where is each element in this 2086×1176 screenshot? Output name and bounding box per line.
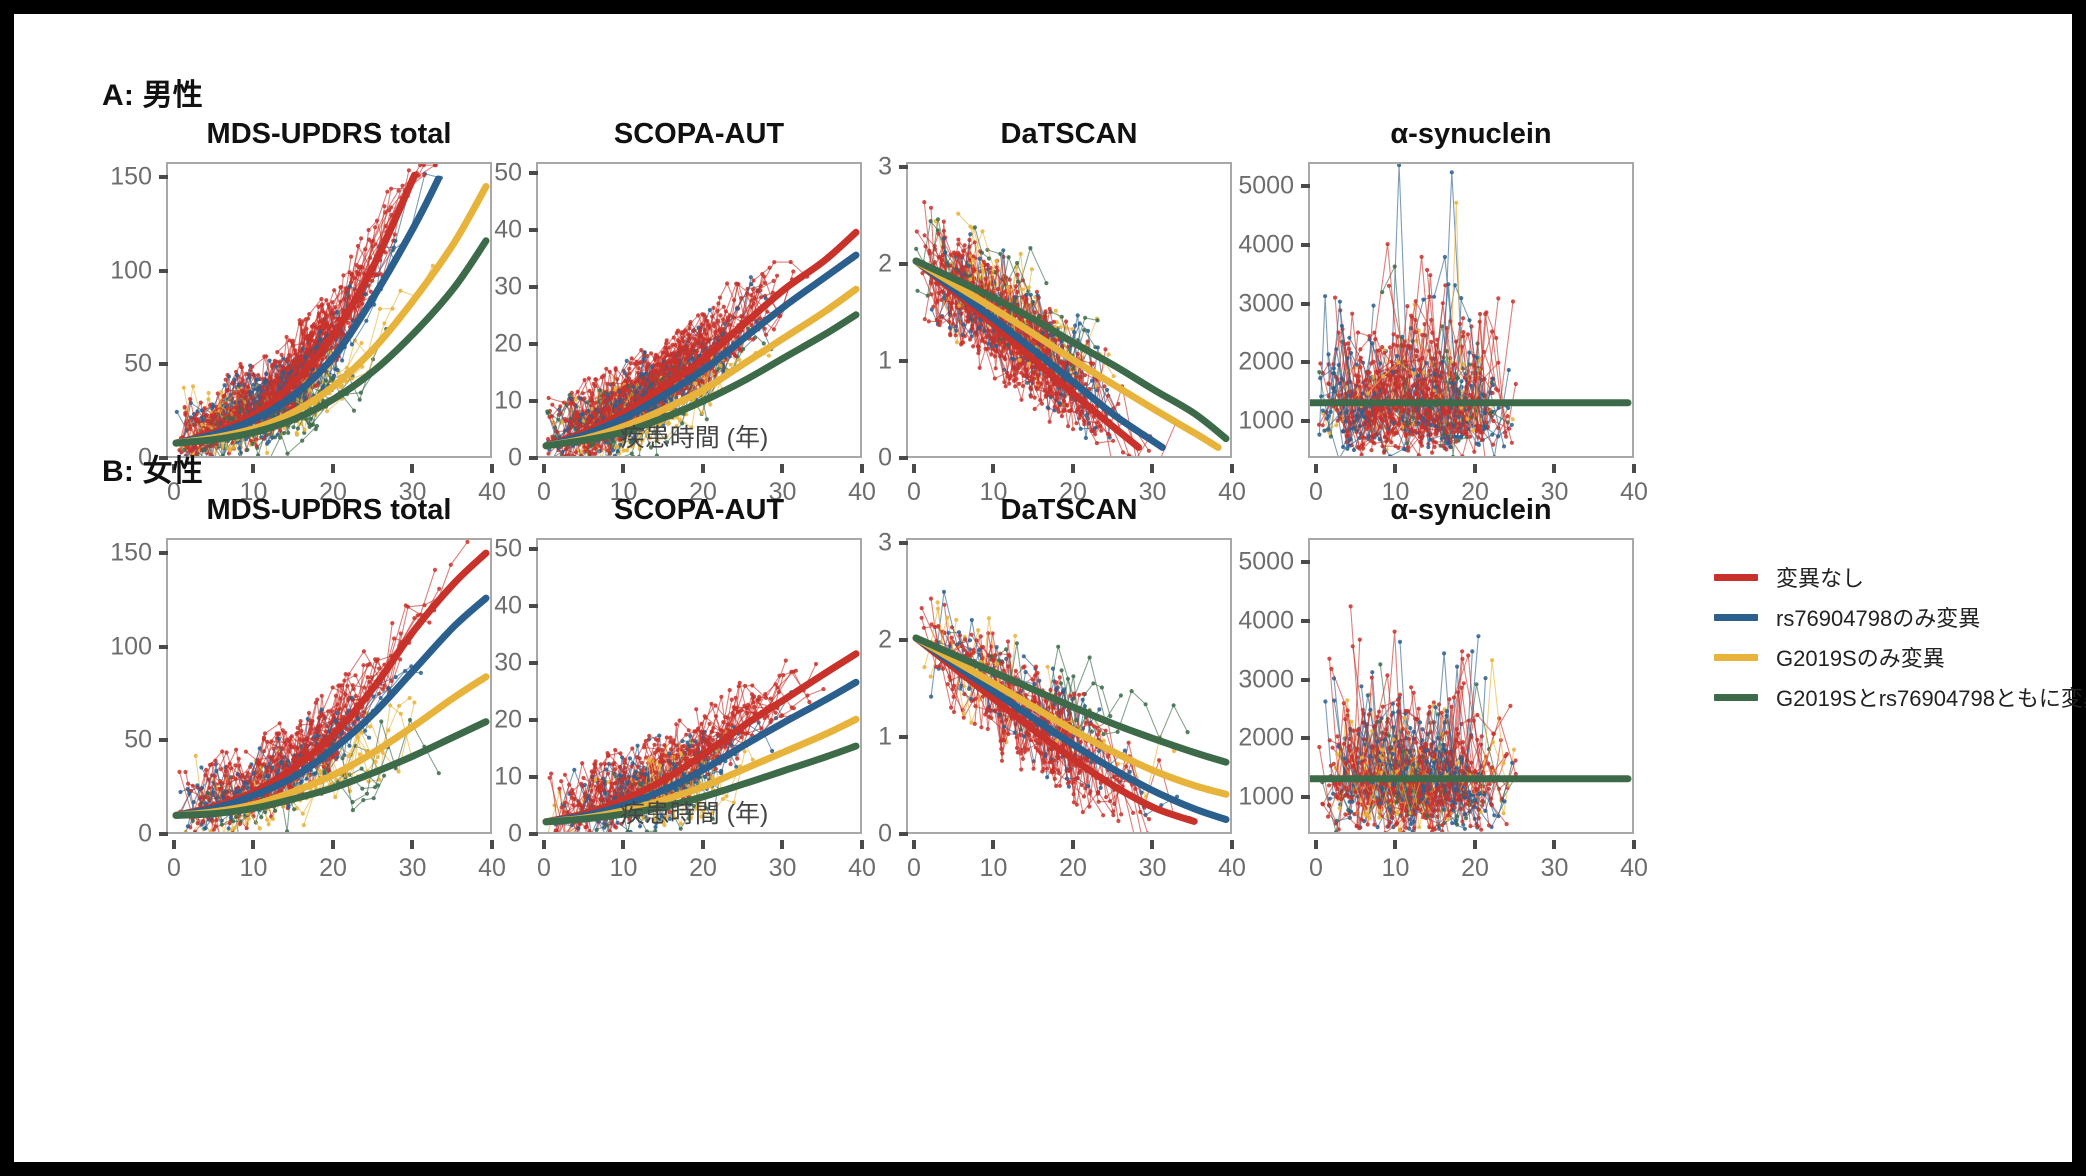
data-point xyxy=(772,327,776,331)
data-point xyxy=(929,206,933,210)
data-point xyxy=(370,240,374,244)
data-point xyxy=(264,391,268,395)
data-point xyxy=(775,274,779,278)
data-point xyxy=(318,337,322,341)
data-point xyxy=(546,452,550,456)
data-point xyxy=(961,249,965,253)
data-point xyxy=(290,403,294,407)
data-point xyxy=(936,217,940,221)
data-point xyxy=(593,457,597,458)
data-point xyxy=(1103,347,1107,351)
data-point xyxy=(227,374,231,378)
data-point xyxy=(940,290,944,294)
data-point xyxy=(737,358,741,362)
data-point xyxy=(1002,380,1006,384)
data-point xyxy=(668,396,672,400)
data-point xyxy=(256,373,260,377)
data-point xyxy=(764,333,768,337)
plot-area xyxy=(1308,162,1634,458)
data-point xyxy=(977,345,981,349)
data-point xyxy=(986,328,990,332)
data-point xyxy=(1048,420,1052,424)
data-point xyxy=(955,340,959,344)
data-point xyxy=(1134,457,1138,458)
data-point xyxy=(649,378,653,382)
data-point xyxy=(238,407,242,411)
data-point xyxy=(1020,288,1024,292)
x-tick-mark xyxy=(991,464,995,473)
data-point xyxy=(938,323,942,327)
data-point xyxy=(311,325,315,329)
data-point xyxy=(751,337,755,341)
plot-svg xyxy=(168,164,492,458)
data-point xyxy=(973,240,977,244)
data-point xyxy=(1083,316,1087,320)
data-point xyxy=(267,440,271,444)
data-point xyxy=(1042,315,1046,319)
data-point xyxy=(275,350,279,354)
y-tick-mark xyxy=(529,228,538,232)
data-point xyxy=(614,366,618,370)
data-point xyxy=(973,225,977,229)
data-point xyxy=(943,250,947,254)
data-point xyxy=(340,358,344,362)
data-point xyxy=(256,453,260,457)
data-point xyxy=(729,363,733,367)
data-point xyxy=(696,313,700,317)
data-point xyxy=(373,273,377,277)
data-point xyxy=(249,439,253,443)
data-point xyxy=(956,253,960,257)
data-point xyxy=(767,354,771,358)
data-point xyxy=(1076,352,1080,356)
subject-trajectories xyxy=(1317,164,1518,458)
data-point xyxy=(191,384,195,388)
data-point xyxy=(568,401,572,405)
data-point xyxy=(1138,457,1142,458)
x-tick-mark xyxy=(542,464,546,473)
data-point xyxy=(672,353,676,357)
plot-svg xyxy=(1310,164,1634,458)
y-tick-label: 10 xyxy=(472,387,522,416)
plot-area xyxy=(536,162,862,458)
data-point xyxy=(1036,296,1040,300)
data-point xyxy=(383,210,387,214)
data-point xyxy=(665,338,669,342)
data-point xyxy=(232,391,236,395)
data-point xyxy=(347,270,351,274)
data-point xyxy=(971,258,975,262)
data-point xyxy=(700,411,704,415)
data-point xyxy=(551,457,555,458)
data-point xyxy=(1084,436,1088,440)
data-point xyxy=(704,318,708,322)
data-point xyxy=(285,335,289,339)
data-point xyxy=(630,356,634,360)
data-point xyxy=(359,391,363,395)
data-point xyxy=(937,255,941,259)
data-point xyxy=(751,302,755,306)
data-point xyxy=(549,457,553,458)
data-point xyxy=(188,427,192,431)
data-point xyxy=(235,373,239,377)
data-point xyxy=(273,359,277,363)
data-point xyxy=(915,289,919,293)
data-point xyxy=(978,257,982,261)
data-point xyxy=(574,421,578,425)
y-tick-mark xyxy=(529,456,538,460)
data-point xyxy=(1071,427,1075,431)
data-point xyxy=(559,456,563,458)
data-point xyxy=(987,256,991,260)
data-point xyxy=(291,425,295,429)
data-point xyxy=(695,338,699,342)
data-point xyxy=(343,286,347,290)
data-point xyxy=(1024,297,1028,301)
data-point xyxy=(594,417,598,421)
data-point xyxy=(264,354,268,358)
data-point xyxy=(673,343,677,347)
data-point xyxy=(392,246,396,250)
data-point xyxy=(206,397,210,401)
data-point xyxy=(719,313,723,317)
data-point xyxy=(227,447,231,451)
data-point xyxy=(352,276,356,280)
data-point xyxy=(1048,307,1052,311)
data-point xyxy=(333,367,337,371)
data-point xyxy=(1073,371,1077,375)
data-point xyxy=(240,389,244,393)
data-point xyxy=(762,341,766,345)
data-point xyxy=(1006,374,1010,378)
data-point xyxy=(1030,267,1034,271)
data-point xyxy=(923,233,927,237)
data-point xyxy=(203,457,207,458)
y-tick-mark xyxy=(529,171,538,175)
data-point xyxy=(364,319,368,323)
data-point xyxy=(196,419,200,423)
data-point xyxy=(712,321,716,325)
data-point xyxy=(977,326,981,330)
data-point xyxy=(583,378,587,382)
data-point xyxy=(789,260,793,264)
data-point xyxy=(980,229,984,233)
data-point xyxy=(1091,362,1095,366)
data-point xyxy=(318,330,322,334)
y-tick-mark xyxy=(899,262,908,266)
data-point xyxy=(625,359,629,363)
plot-area xyxy=(906,162,1232,458)
data-point xyxy=(300,439,304,443)
data-point xyxy=(1116,402,1120,406)
data-point xyxy=(929,292,933,296)
data-point xyxy=(1059,325,1063,329)
data-point xyxy=(320,302,324,306)
data-point xyxy=(593,384,597,388)
data-point xyxy=(665,346,669,350)
data-point xyxy=(268,457,272,458)
data-point xyxy=(255,444,259,448)
y-tick-mark xyxy=(159,269,168,273)
data-point xyxy=(606,448,610,452)
data-point xyxy=(574,397,578,401)
data-point xyxy=(208,403,212,407)
data-point xyxy=(271,363,275,367)
data-point xyxy=(1158,457,1162,458)
data-point xyxy=(979,280,983,284)
data-point xyxy=(736,282,740,286)
data-point xyxy=(195,412,199,416)
data-point xyxy=(938,315,942,319)
data-point xyxy=(1352,448,1356,452)
data-point xyxy=(274,365,278,369)
data-point xyxy=(332,288,336,292)
data-point xyxy=(1027,362,1031,366)
data-point xyxy=(728,323,732,327)
data-point xyxy=(703,328,707,332)
data-point xyxy=(922,200,926,204)
data-point xyxy=(605,457,609,458)
data-point xyxy=(547,396,551,400)
data-point xyxy=(980,251,984,255)
data-point xyxy=(655,454,659,458)
x-tick-mark xyxy=(251,464,255,473)
data-point xyxy=(1025,293,1029,297)
panel-a2: SCOPA-AUT01020304050010203040 xyxy=(472,118,882,518)
x-tick-mark xyxy=(410,464,414,473)
data-point xyxy=(615,399,619,403)
data-point xyxy=(229,408,233,412)
data-point xyxy=(182,386,186,390)
data-point xyxy=(175,410,179,414)
data-point xyxy=(994,366,998,370)
data-point xyxy=(558,457,562,458)
plot-area xyxy=(166,162,492,458)
data-point xyxy=(591,411,595,415)
data-point xyxy=(590,443,594,447)
data-point xyxy=(751,278,755,282)
data-point xyxy=(259,435,263,439)
data-point xyxy=(971,344,975,348)
y-tick-label: 50 xyxy=(472,159,522,188)
data-point xyxy=(637,455,641,458)
data-point xyxy=(749,282,753,286)
data-point xyxy=(281,356,285,360)
data-point xyxy=(994,344,998,348)
data-point xyxy=(926,294,930,298)
data-point xyxy=(966,320,970,324)
data-point xyxy=(1064,319,1068,323)
data-point xyxy=(1035,290,1039,294)
data-point xyxy=(1015,261,1019,265)
data-point xyxy=(960,269,964,273)
data-point xyxy=(398,289,402,293)
y-tick-label: 0 xyxy=(842,444,892,473)
data-point xyxy=(1019,371,1023,375)
data-point xyxy=(1028,246,1032,250)
data-point xyxy=(220,457,224,458)
data-point xyxy=(949,253,953,257)
data-point xyxy=(1007,255,1011,259)
data-point xyxy=(999,354,1003,358)
data-point xyxy=(1055,397,1059,401)
data-point xyxy=(545,457,549,458)
data-point xyxy=(614,386,618,390)
data-point xyxy=(711,306,715,310)
data-point xyxy=(358,265,362,269)
data-point xyxy=(268,359,272,363)
panel-title: α-synuclein xyxy=(1308,118,1634,151)
data-point xyxy=(563,417,567,421)
data-point xyxy=(615,377,619,381)
data-point xyxy=(254,378,258,382)
data-point xyxy=(350,377,354,381)
data-point xyxy=(649,351,653,355)
data-point xyxy=(985,263,989,267)
data-point xyxy=(384,224,388,228)
data-point xyxy=(971,254,975,258)
data-point xyxy=(341,273,345,277)
data-point xyxy=(688,322,692,326)
data-point xyxy=(188,397,192,401)
data-point xyxy=(710,315,714,319)
data-point xyxy=(751,287,755,291)
data-point xyxy=(604,457,608,458)
data-point xyxy=(645,364,649,368)
data-point xyxy=(953,313,957,317)
data-point xyxy=(1001,339,1005,343)
panel-title: DaTSCAN xyxy=(906,118,1232,151)
data-point xyxy=(956,238,960,242)
x-tick-mark xyxy=(780,464,784,473)
data-point xyxy=(321,385,325,389)
data-point xyxy=(1099,429,1103,433)
data-point xyxy=(296,426,300,430)
data-point xyxy=(332,316,336,320)
y-tick-mark xyxy=(899,165,908,169)
data-point xyxy=(545,409,549,413)
data-point xyxy=(393,232,397,236)
data-point xyxy=(1085,413,1089,417)
data-point xyxy=(1053,405,1057,409)
data-point xyxy=(1013,373,1017,377)
data-point xyxy=(225,388,229,392)
data-point xyxy=(993,354,997,358)
data-point xyxy=(1045,381,1049,385)
data-point xyxy=(1046,405,1050,409)
data-point xyxy=(948,332,952,336)
x-tick-mark xyxy=(912,464,916,473)
data-point xyxy=(722,305,726,309)
data-point xyxy=(673,367,677,371)
data-point xyxy=(367,228,371,232)
data-point xyxy=(993,376,997,380)
panel-a4: α-synuclein10002000300040005000010203040 xyxy=(1212,118,1654,518)
data-point xyxy=(949,264,953,268)
data-point xyxy=(989,352,993,356)
data-point xyxy=(245,448,249,452)
data-point xyxy=(593,452,597,456)
data-point xyxy=(1502,444,1506,448)
data-point xyxy=(237,413,241,417)
data-point xyxy=(637,366,641,370)
data-point xyxy=(968,337,972,341)
data-point xyxy=(1043,309,1047,313)
data-point xyxy=(1107,433,1111,437)
data-point xyxy=(565,457,569,458)
data-point xyxy=(749,323,753,327)
data-point xyxy=(208,453,212,457)
panel-title: SCOPA-AUT xyxy=(536,118,862,151)
data-point xyxy=(1036,381,1040,385)
data-point xyxy=(358,398,362,402)
data-point xyxy=(236,384,240,388)
data-point xyxy=(213,457,217,458)
data-point xyxy=(630,397,634,401)
data-point xyxy=(700,312,704,316)
data-point xyxy=(1018,358,1022,362)
data-point xyxy=(1058,401,1062,405)
data-point xyxy=(316,314,320,318)
data-point xyxy=(1001,248,1005,252)
data-point xyxy=(1107,352,1111,356)
data-point xyxy=(1074,421,1078,425)
data-point xyxy=(635,360,639,364)
y-tick-mark xyxy=(899,456,908,460)
data-point xyxy=(613,454,617,458)
data-point xyxy=(224,378,228,382)
data-point xyxy=(348,284,352,288)
data-point xyxy=(716,301,720,305)
data-point xyxy=(1013,298,1017,302)
data-point xyxy=(359,236,363,240)
data-point xyxy=(304,355,308,359)
data-point xyxy=(600,375,604,379)
data-point xyxy=(270,386,274,390)
data-point xyxy=(986,347,990,351)
data-point xyxy=(604,400,608,404)
data-point xyxy=(407,168,411,172)
data-point xyxy=(1044,281,1048,285)
data-point xyxy=(219,390,223,394)
data-point xyxy=(1050,394,1054,398)
panel-a3: DaTSCAN0123010203040 xyxy=(842,118,1252,518)
data-point xyxy=(972,317,976,321)
data-point xyxy=(1134,457,1138,458)
data-point xyxy=(616,457,620,458)
data-point xyxy=(280,353,284,357)
data-point xyxy=(563,429,567,433)
data-point xyxy=(213,457,217,458)
data-point xyxy=(1143,457,1147,458)
data-point xyxy=(1015,351,1019,355)
data-point xyxy=(675,362,679,366)
data-point xyxy=(556,418,560,422)
data-point xyxy=(1082,422,1086,426)
data-point xyxy=(687,333,691,337)
data-point xyxy=(335,310,339,314)
data-point xyxy=(301,328,305,332)
data-point xyxy=(980,263,984,267)
data-point xyxy=(236,391,240,395)
data-point xyxy=(978,366,982,370)
data-point xyxy=(1007,382,1011,386)
data-point xyxy=(1057,410,1061,414)
data-point xyxy=(349,255,353,259)
data-point xyxy=(588,389,592,393)
data-point xyxy=(304,317,308,321)
data-point xyxy=(972,269,976,273)
